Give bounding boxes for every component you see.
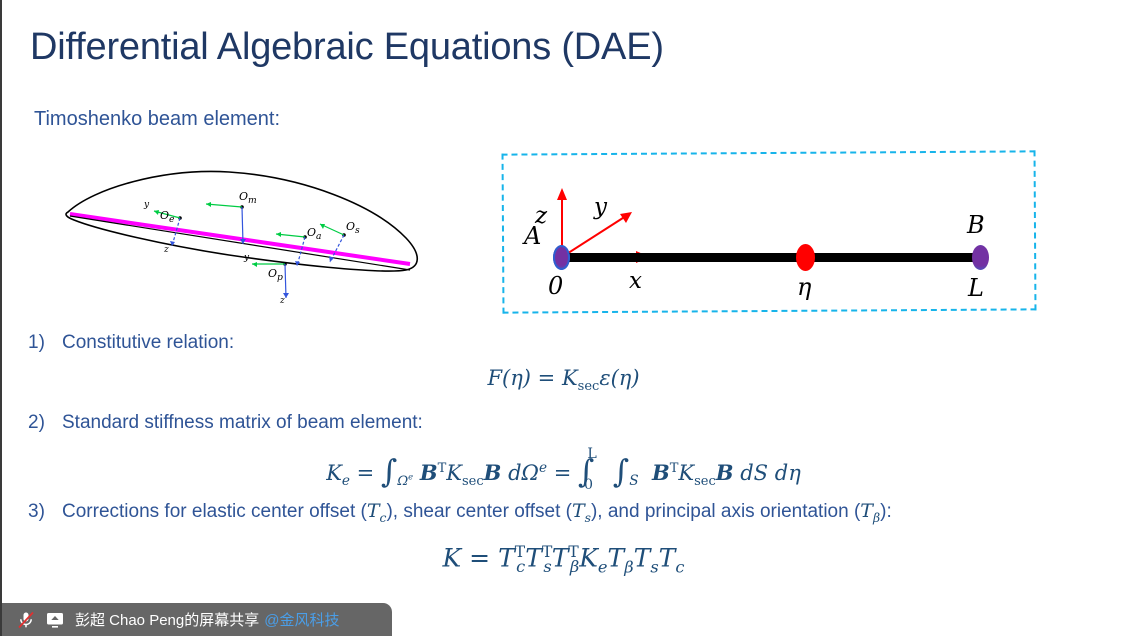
airfoil-z-axis-label-1: z	[164, 245, 169, 255]
list-item-1-number: 1)	[28, 332, 62, 354]
beam-L-label: L	[968, 274, 984, 302]
label-Os: Os	[346, 220, 360, 236]
beam-B-label: B	[967, 211, 985, 239]
mic-muted-icon-svg	[16, 610, 36, 630]
equation-1: F(η) = Ksecε(η)	[2, 366, 1123, 394]
eq3-T2: T	[525, 543, 542, 572]
label-Om: Om	[239, 190, 257, 206]
eq3-Ke-sub: e	[598, 557, 608, 576]
airfoil-y-axis-label-1: y	[144, 200, 149, 210]
beam-origin-label: 0	[548, 272, 563, 300]
airfoil-cross-section-figure: Om Oe Oa Os Op y z y z	[54, 160, 434, 315]
equation-3: K = TTcTTsTTβKeTβTsTc	[2, 543, 1123, 576]
eq2-dS: dS	[740, 461, 768, 485]
eq1-sec: sec	[578, 379, 600, 394]
list-item-3-number: 3)	[28, 501, 62, 523]
eq3-Ke: K	[579, 543, 598, 572]
eq2-integral-1: ∫	[381, 454, 397, 490]
beam-A-label: A	[524, 222, 541, 250]
label-Oa: Oa	[307, 226, 322, 242]
eq2-T-1: T	[438, 461, 447, 476]
mic-muted-icon[interactable]	[16, 610, 36, 630]
eq1-eta2: (η)	[611, 366, 640, 390]
node-B	[972, 245, 989, 270]
list-item-3-part3: ), and principal axis orientation (	[591, 501, 860, 522]
share-status-text: 彭超 Chao Peng的屏幕共享	[75, 609, 259, 630]
eq3-T3: T	[552, 543, 569, 572]
eq3-T5-sub: s	[650, 557, 658, 576]
eq3-T6-sub: c	[675, 557, 684, 576]
beam-element-figure: z y x A 0 η B L	[502, 152, 1036, 312]
list-item-3-part2: ), shear center offset (	[386, 501, 572, 522]
equation-2: Ke = ∫Ωe BTKsecB dΩe = ∫L0∫S BTKsecB dS …	[2, 452, 1123, 491]
airfoil-svg	[54, 160, 434, 315]
eq2-equals-2: =	[547, 461, 578, 485]
list-item-2-text: Standard stiffness matrix of beam elemen…	[62, 412, 423, 433]
eq3-T5: T	[634, 543, 651, 572]
list-item-3: 3)Corrections for elastic center offset …	[28, 500, 892, 525]
eq2-sec-3: sec	[694, 474, 716, 489]
y-arrowhead	[620, 212, 632, 223]
list-item-1-text: Constitutive relation:	[62, 332, 234, 353]
y-axis-arrow	[562, 216, 626, 257]
eq3-T1-sub: c	[516, 557, 525, 576]
screen-share-icon[interactable]	[45, 611, 65, 629]
eq2-B-4: B	[716, 460, 734, 485]
list-item-3-part4: ):	[880, 501, 892, 522]
Os-z-arrowhead	[329, 256, 334, 262]
screen-share-status-bar[interactable]: 彭超 Chao Peng的屏幕共享 @金风科技	[2, 603, 392, 636]
eq1-K: K	[562, 366, 578, 390]
label-Oe: Oe	[160, 209, 174, 225]
list-item-3-Tbeta: Tβ	[860, 500, 880, 522]
eq1-epsilon: ε	[599, 366, 610, 390]
Om-y-axis	[206, 204, 242, 207]
z-arrowhead	[557, 188, 567, 200]
eq3-T3-sub: β	[570, 557, 579, 576]
eq2-K: K	[326, 461, 342, 485]
eq2-dOmega: dΩ	[508, 461, 539, 485]
eq3-T2-sub: s	[543, 557, 551, 576]
airfoil-y-axis-label-2: y	[244, 253, 249, 263]
eq2-B-3: B	[652, 460, 670, 485]
eq2-S-sub: S	[629, 473, 638, 489]
node-A	[553, 245, 570, 270]
beam-x-label: x	[629, 268, 642, 294]
eq1-eta1: (η)	[502, 366, 531, 390]
eq3-T6: T	[659, 543, 676, 572]
eq3-equals: =	[461, 543, 498, 572]
eq1-F: F	[487, 366, 502, 390]
eq2-equals-1: =	[350, 461, 381, 485]
list-item-1: 1)Constitutive relation:	[28, 332, 234, 354]
airfoil-z-axis-label-2: z	[280, 296, 285, 306]
list-item-3-Ts: Ts	[572, 500, 591, 522]
presentation-slide: Differential Algebraic Equations (DAE) T…	[0, 0, 1123, 636]
eq2-sec-2: sec	[462, 474, 484, 489]
beam-y-label: y	[594, 194, 607, 220]
eq3-K: K	[443, 543, 462, 572]
eq1-equals: =	[531, 366, 562, 390]
screen-share-icon-svg	[45, 611, 65, 629]
eq2-integral-2: ∫L0	[578, 454, 613, 490]
eq3-T1: T	[498, 543, 515, 572]
eq3-T4: T	[608, 543, 625, 572]
eq2-dOmega-sup: e	[539, 460, 547, 476]
beam-axes-svg	[502, 152, 1036, 312]
eq2-B-1: B	[420, 460, 438, 485]
eq2-K-2: K	[446, 461, 462, 485]
beam-eta-label: η	[797, 273, 811, 301]
eq2-K-3: K	[678, 461, 694, 485]
eq2-integral-3: ∫	[613, 454, 629, 490]
eq2-B-2: B	[484, 460, 502, 485]
list-item-2: 2)Standard stiffness matrix of beam elem…	[28, 412, 423, 434]
list-item-3-Tc: Tc	[367, 500, 387, 522]
eq3-T4-sub: β	[624, 557, 633, 576]
eq2-deta: dη	[775, 461, 801, 485]
list-item-3-part1: Corrections for elastic center offset (	[62, 501, 367, 522]
page-title: Differential Algebraic Equations (DAE)	[30, 26, 664, 69]
share-org-text: @金风科技	[264, 609, 339, 630]
slide-subtitle: Timoshenko beam element:	[34, 108, 280, 131]
eq2-K-sub: e	[342, 473, 350, 489]
label-Op: Op	[268, 267, 283, 283]
list-item-2-number: 2)	[28, 412, 62, 434]
eq2-omega-sub: Ωe	[397, 474, 413, 489]
beam-bar	[562, 253, 982, 262]
Op-z-axis	[285, 264, 286, 298]
node-eta	[796, 244, 815, 271]
